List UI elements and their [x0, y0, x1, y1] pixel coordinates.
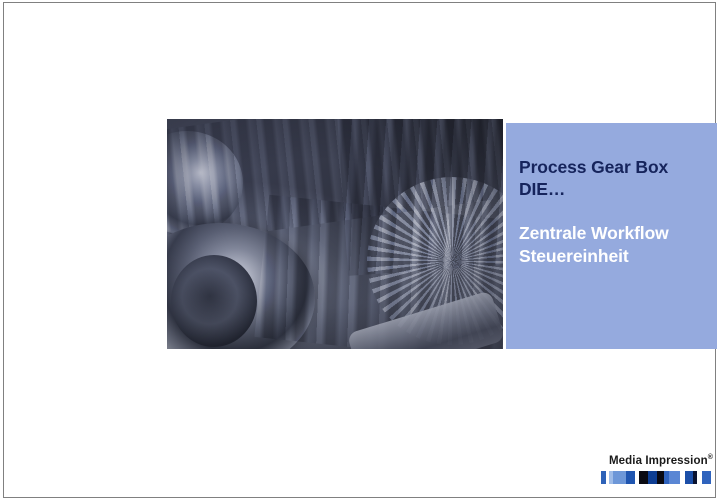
- logo-bar-3: [613, 471, 626, 484]
- page-subtitle: Zentrale Workflow Steuereinheit: [519, 222, 711, 268]
- logo-bar-8: [657, 471, 664, 484]
- logo-bar-16: [711, 471, 713, 484]
- media-impression-logo: Media Impression®: [601, 454, 713, 484]
- title-panel: Process Gear Box DIE… Zentrale Workflow …: [506, 123, 717, 349]
- registered-trademark-icon: ®: [708, 454, 713, 461]
- logo-wordmark: Media Impression®: [601, 454, 713, 467]
- logo-bar-6: [639, 471, 648, 484]
- logo-bar-15: [702, 471, 711, 484]
- logo-bar-12: [685, 471, 693, 484]
- page-title: Process Gear Box DIE…: [519, 156, 711, 200]
- photo-vignette: [167, 119, 503, 349]
- presentation-slide: Process Gear Box DIE… Zentrale Workflow …: [3, 2, 716, 498]
- logo-bar-7: [648, 471, 657, 484]
- gearbox-photo: [167, 119, 503, 349]
- logo-bar-4: [626, 471, 635, 484]
- logo-bar-graphic: [601, 471, 713, 484]
- logo-bar-10: [669, 471, 680, 484]
